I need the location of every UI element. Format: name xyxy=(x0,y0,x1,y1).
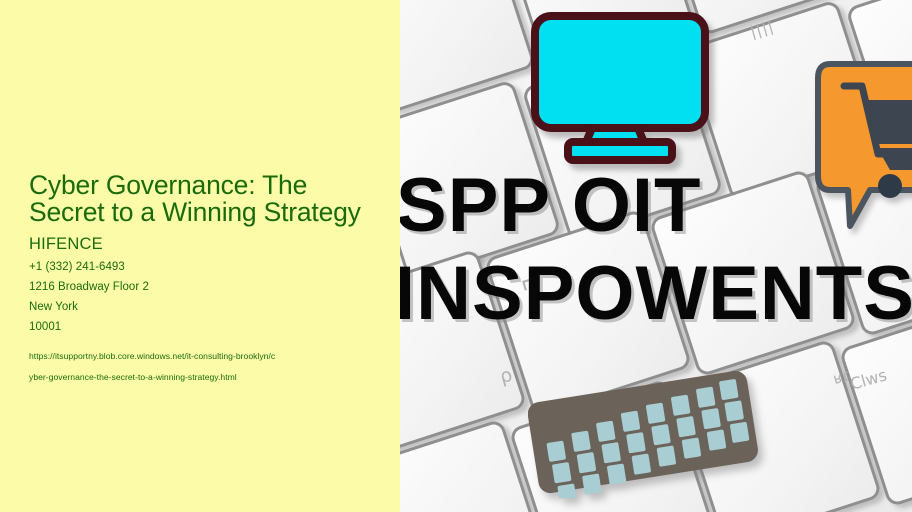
keypad-icon xyxy=(528,368,758,498)
contact-address-city: New York xyxy=(29,297,385,317)
contact-phone: +1 (332) 241-6493 xyxy=(29,257,385,277)
shopping-cart-bubble-icon xyxy=(812,58,912,230)
monitor-icon xyxy=(530,12,710,164)
article-url[interactable]: https://itsupportny.blob.core.windows.ne… xyxy=(29,346,385,388)
contact-address-street: 1216 Broadway Floor 2 xyxy=(29,277,385,297)
article-url-line-2[interactable]: yber-governance-the-secret-to-a-winning-… xyxy=(29,367,385,388)
poster-canvas: Cyber Governance: The Secret to a Winnin… xyxy=(0,0,912,512)
article-url-line-1[interactable]: https://itsupportny.blob.core.windows.ne… xyxy=(29,346,385,367)
company-name: HIFENCE xyxy=(29,235,385,254)
contact-address-zip: 10001 xyxy=(29,317,385,337)
text-block: Cyber Governance: The Secret to a Winnin… xyxy=(29,172,385,388)
page-title: Cyber Governance: The Secret to a Winnin… xyxy=(29,172,385,226)
left-text-panel: Cyber Governance: The Secret to a Winnin… xyxy=(0,0,400,512)
article-hero-image: V |||| ⌜ ρ ʁɾ Clws SPP OIT INSPOWENTS xyxy=(400,0,912,512)
